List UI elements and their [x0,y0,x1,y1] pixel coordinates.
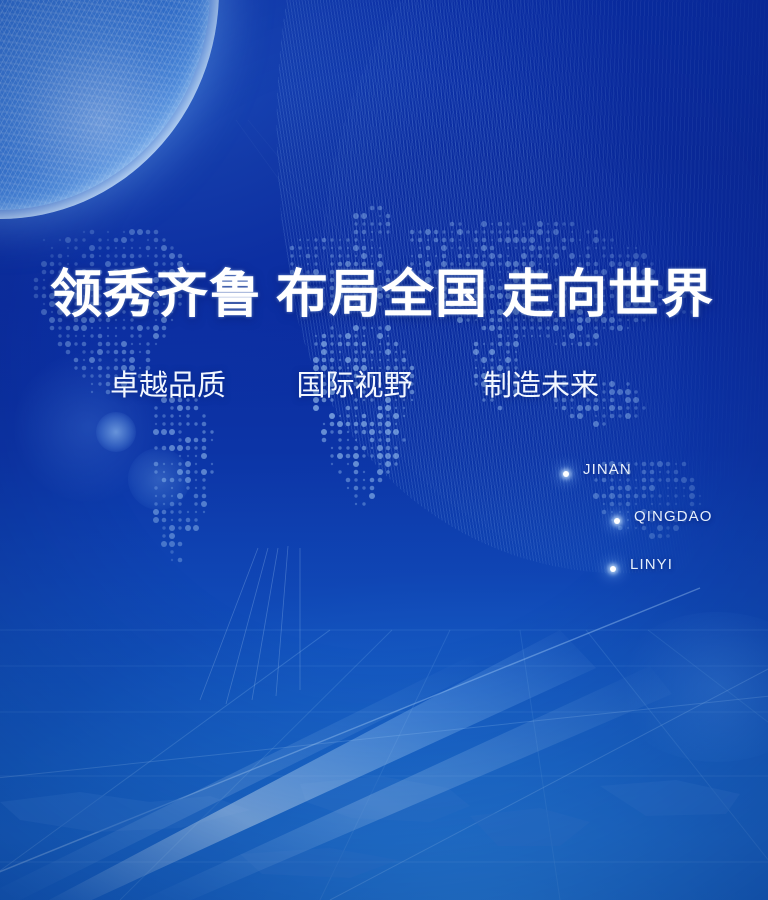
city-marker-icon [563,471,569,477]
page-subtitle: 卓越品质 国际视野 制造未来 [110,372,599,401]
subtitle-part-2: 国际视野 [297,370,413,402]
page-title: 领秀齐鲁 布局全国 走向世界 [50,270,714,322]
city-label-qingdao: QINGDAO [634,508,713,525]
globe-icon [0,0,210,210]
globe-rim [0,0,219,219]
subtitle-part-1: 卓越品质 [110,370,226,402]
light-streaks [0,480,768,900]
city-marker-icon [610,566,616,572]
city-label-jinan: JINAN [583,461,632,478]
city-label-linyi: LINYI [630,556,673,573]
subtitle-part-3: 制造未来 [483,370,599,402]
city-marker-icon [614,518,620,524]
hero-banner: 领秀齐鲁 布局全国 走向世界 卓越品质 国际视野 制造未来 JINANQINGD… [0,0,768,900]
